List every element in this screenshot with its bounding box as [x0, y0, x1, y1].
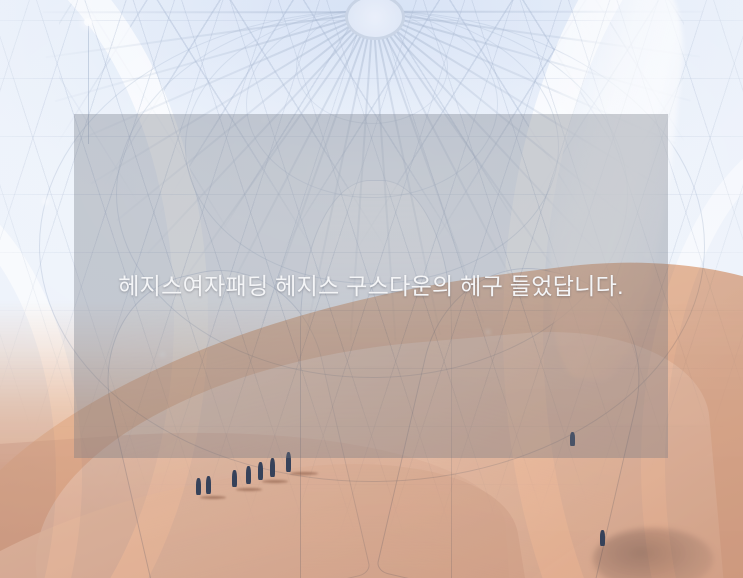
walking-figure — [196, 478, 201, 495]
walker-shadow — [200, 496, 226, 499]
walking-figure — [270, 458, 275, 477]
walking-figure — [246, 466, 251, 484]
walker-shadow — [262, 480, 288, 483]
dome-spoke — [42, 11, 372, 13]
dome-arc — [296, 10, 448, 124]
walking-figure — [258, 462, 263, 480]
dome-spoke — [372, 11, 702, 13]
walking-figure — [206, 476, 211, 494]
dome-oculus — [345, 0, 405, 40]
dome-spoke — [54, 11, 372, 101]
caption-overlay-panel: 헤지스여자패딩 헤지스 구스다운의 헤구 들었답니다. — [74, 114, 668, 458]
pendant-light-bulb — [84, 18, 92, 26]
spiral-ramp-arc-left-inner — [0, 170, 82, 578]
dome-spoke — [372, 11, 699, 57]
caption-text: 헤지스여자패딩 헤지스 구스다운의 헤구 들었답니다. — [82, 270, 660, 303]
walker-shadow — [236, 488, 262, 491]
dome-spoke — [372, 11, 690, 101]
rock-outcrop — [593, 528, 713, 578]
walker-shadow — [290, 472, 318, 475]
walking-figure — [600, 530, 605, 546]
bokeh-highlight — [42, 198, 49, 205]
walking-figure — [232, 470, 237, 487]
image-canvas: 헤지스여자패딩 헤지스 구스다운의 헤구 들었답니다. — [0, 0, 743, 578]
dome-spoke — [45, 11, 372, 57]
